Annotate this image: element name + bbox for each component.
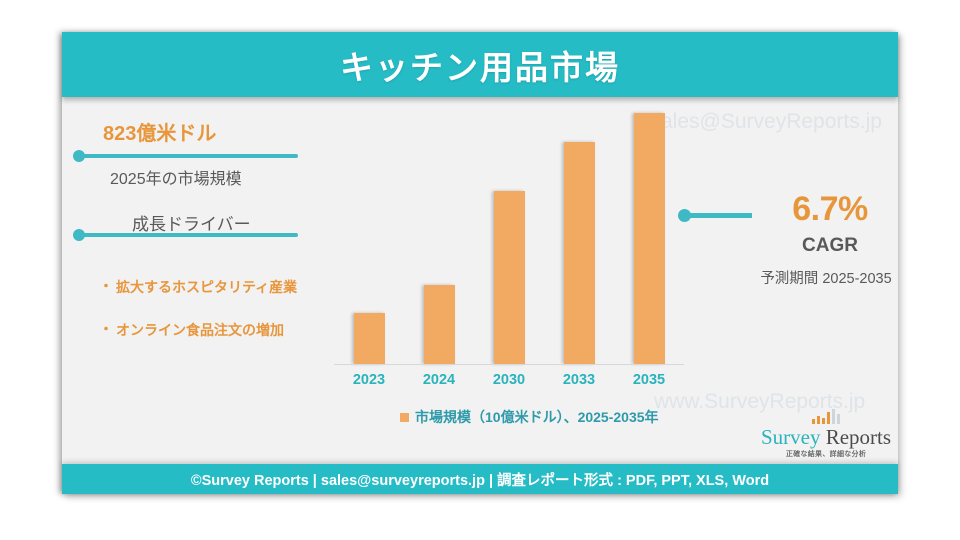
x-axis-line [334, 364, 684, 365]
bar-slot [474, 102, 544, 364]
chart-bar [424, 285, 455, 364]
driver-label: オンライン食品注文の増加 [116, 322, 284, 338]
driver-label: 拡大するホスピタリティ産業 [116, 279, 297, 295]
divider-rule-2 [80, 233, 298, 237]
footer-banner: ©Survey Reports | sales@surveyreports.jp… [62, 464, 898, 494]
market-size-value: 823億米ドル [103, 117, 216, 146]
x-axis-tick-label: 2035 [614, 372, 684, 388]
market-size-bar-chart: 市場規模（10億米ドル）、2025-2035年 2023202420302033… [334, 102, 684, 404]
chart-bar [634, 113, 665, 364]
growth-drivers-heading: 成長ドライバー [132, 210, 251, 235]
bar-slot [614, 102, 684, 364]
cagr-value: 6.7% [762, 190, 898, 229]
cagr-connector-line [684, 213, 752, 218]
chart-bar [494, 191, 525, 364]
survey-reports-logo: Survey Reports 正確な結果、詳細な分析 [756, 408, 896, 459]
chart-legend: 市場規模（10億米ドル）、2025-2035年 [400, 407, 659, 427]
logo-wordmark: Survey Reports [756, 426, 896, 448]
legend-swatch-icon [400, 413, 409, 422]
bar-slot [544, 102, 614, 364]
bar-slot [404, 102, 474, 364]
cagr-label: CAGR [762, 235, 898, 257]
chart-bar [564, 142, 595, 364]
infographic-canvas: キッチン用品市場 Sales@SurveyReports.jp www.Surv… [0, 0, 960, 540]
logo-word-survey: Survey [761, 425, 821, 449]
page-title: キッチン用品市場 [340, 41, 620, 89]
bullet-icon: ・ [99, 276, 113, 296]
market-size-caption: 2025年の市場規模 [110, 165, 242, 189]
bullet-icon: ・ [99, 319, 113, 339]
x-axis-tick-label: 2033 [544, 372, 614, 388]
bar-chart-icon [756, 408, 896, 424]
x-axis-tick-label: 2023 [334, 372, 404, 388]
chart-plot-area [334, 102, 684, 364]
chart-bar [354, 313, 385, 364]
footer-text: ©Survey Reports | sales@surveyreports.jp… [191, 469, 769, 490]
bar-slot [334, 102, 404, 364]
logo-tagline: 正確な結果、詳細な分析 [756, 449, 896, 459]
header-banner: キッチン用品市場 [62, 32, 898, 97]
report-card: キッチン用品市場 Sales@SurveyReports.jp www.Surv… [62, 32, 898, 494]
legend-label: 市場規模（10億米ドル）、2025-2035年 [415, 407, 659, 427]
x-axis-tick-label: 2024 [404, 372, 474, 388]
x-axis-tick-label: 2030 [474, 372, 544, 388]
logo-word-reports: Reports [826, 425, 891, 449]
divider-rule-1 [80, 154, 298, 158]
forecast-period: 予測期間 2025-2035 [746, 267, 906, 288]
